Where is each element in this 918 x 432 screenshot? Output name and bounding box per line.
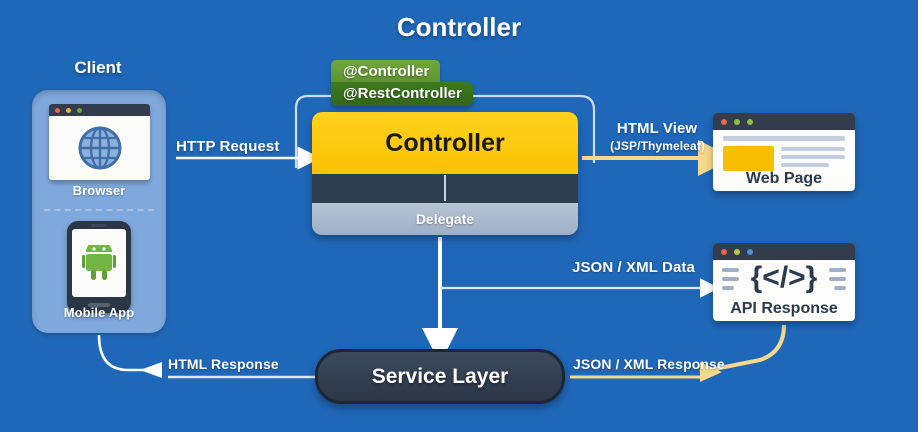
phone-screen <box>72 229 126 297</box>
mobile-phone-card[interactable] <box>67 221 131 313</box>
api-titlebar <box>713 243 855 260</box>
client-section-title: Client <box>22 58 174 78</box>
webpage-dot-green <box>734 119 740 125</box>
browser-dot-yellow <box>66 108 71 113</box>
client-divider <box>44 209 154 211</box>
web-page-titlebar <box>713 113 855 130</box>
service-layer-box[interactable]: Service Layer <box>315 349 565 404</box>
annotation-restcontroller-badge[interactable]: @RestController <box>331 82 473 106</box>
diagram-title: Controller <box>0 12 918 43</box>
webpage-dot-red <box>721 119 727 125</box>
api-dot-yellow <box>734 249 740 255</box>
api-dot-blue <box>747 249 753 255</box>
api-response-card[interactable]: {</>} API Response <box>713 243 855 321</box>
diagram-canvas: Controller Client Browser <box>0 0 918 432</box>
webpage-skeleton-line <box>781 155 845 159</box>
webpage-skeleton-line <box>781 163 829 167</box>
webpage-accent-block <box>723 146 774 171</box>
delegate-label: Delegate <box>312 203 578 235</box>
webpage-dot-green-2 <box>747 119 753 125</box>
controller-box-label: Controller <box>312 112 578 174</box>
mobile-caption: Mobile App <box>32 305 166 320</box>
web-page-caption: Web Page <box>713 170 855 188</box>
code-brackets-icon: {</>} <box>713 263 855 293</box>
flow-label-json-xml-data: JSON / XML Data <box>572 259 695 276</box>
webpage-skeleton-line <box>723 136 845 141</box>
flow-label-http-request: HTTP Request <box>176 138 279 155</box>
browser-viewport <box>52 118 147 177</box>
browser-caption: Browser <box>32 183 166 198</box>
flow-sublabel-html-view: (JSP/Thymeleaf) <box>595 139 720 153</box>
browser-dot-red <box>55 108 60 113</box>
service-layer-label: Service Layer <box>372 365 509 389</box>
webpage-skeleton-line <box>781 147 845 151</box>
phone-notch <box>91 224 107 227</box>
browser-titlebar <box>49 104 150 116</box>
flow-label-json-xml-response: JSON / XML Response <box>573 356 725 372</box>
browser-dot-green <box>77 108 82 113</box>
controller-inner-tick <box>444 175 446 201</box>
flow-label-html-response: HTML Response <box>168 356 279 372</box>
flow-label-html-view: HTML View <box>603 120 711 137</box>
android-robot-icon <box>82 245 116 281</box>
browser-card[interactable] <box>49 104 150 180</box>
controller-box[interactable]: Controller Delegate <box>312 112 578 235</box>
globe-icon <box>77 125 123 171</box>
api-dot-red <box>721 249 727 255</box>
annotation-controller-badge[interactable]: @Controller <box>331 60 440 83</box>
api-response-caption: API Response <box>713 300 855 318</box>
web-page-card[interactable]: Web Page <box>713 113 855 191</box>
